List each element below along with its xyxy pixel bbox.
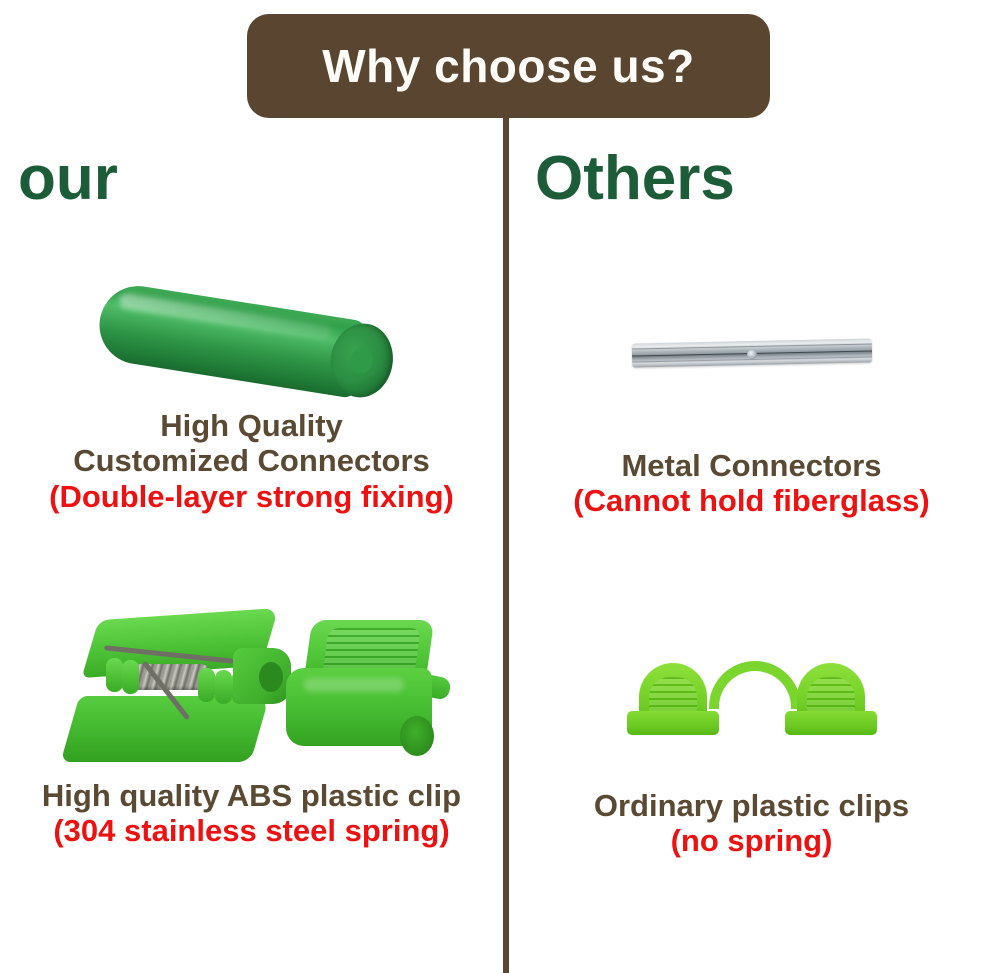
- caption-others-clip: Ordinary plastic clips (no spring): [509, 788, 994, 859]
- ordinary-clip-right-icon: [785, 663, 877, 735]
- column-heading-others: Others: [535, 148, 735, 210]
- artwork-abs-clips: [0, 598, 503, 778]
- caption-line-2: Customized Connectors: [0, 443, 503, 478]
- caption-others-connector: Metal Connectors (Cannot hold fiberglass…: [509, 448, 994, 519]
- product-block-others-clip: Ordinary plastic clips (no spring): [509, 598, 994, 859]
- banner-title: Why choose us?: [322, 43, 694, 89]
- caption-highlight: (Double-layer strong fixing): [0, 479, 503, 514]
- artwork-metal-connector: [509, 258, 994, 448]
- caption-highlight: (no spring): [509, 823, 994, 858]
- caption-line-1: Metal Connectors: [509, 448, 994, 483]
- column-heading-our: our: [18, 148, 118, 210]
- column-our: our High Quality Customized Connectors (…: [0, 118, 503, 973]
- column-divider: [503, 104, 509, 973]
- abs-clip-closed-icon: [280, 620, 440, 760]
- product-block-our-connector: High Quality Customized Connectors (Doub…: [0, 258, 503, 514]
- abs-clip-open-icon: [70, 612, 285, 768]
- ordinary-clip-pair-icon: [617, 633, 887, 753]
- caption-highlight: (304 stainless steel spring): [0, 813, 503, 848]
- caption-line-1: Ordinary plastic clips: [509, 788, 994, 823]
- caption-line-1: High Quality: [0, 408, 503, 443]
- product-block-our-clip: High quality ABS plastic clip (304 stain…: [0, 598, 503, 849]
- caption-line-1: High quality ABS plastic clip: [0, 778, 503, 813]
- product-block-others-connector: Metal Connectors (Cannot hold fiberglass…: [509, 258, 994, 519]
- abs-clip-pair-icon: [52, 598, 452, 778]
- metal-connector-tube-icon: [632, 323, 872, 383]
- artwork-ordinary-clips: [509, 598, 994, 788]
- comparison-infographic: Why choose us? our High Quality Custom: [0, 0, 994, 973]
- caption-our-connector: High Quality Customized Connectors (Doub…: [0, 408, 503, 514]
- column-others: Others Metal Connectors (Cannot hold fib…: [509, 118, 994, 973]
- artwork-green-connector: [0, 258, 503, 408]
- header-banner: Why choose us?: [247, 14, 770, 118]
- caption-highlight: (Cannot hold fiberglass): [509, 483, 994, 518]
- caption-our-clip: High quality ABS plastic clip (304 stain…: [0, 778, 503, 849]
- ordinary-clip-left-icon: [627, 663, 719, 735]
- green-connector-tube-icon: [92, 258, 412, 408]
